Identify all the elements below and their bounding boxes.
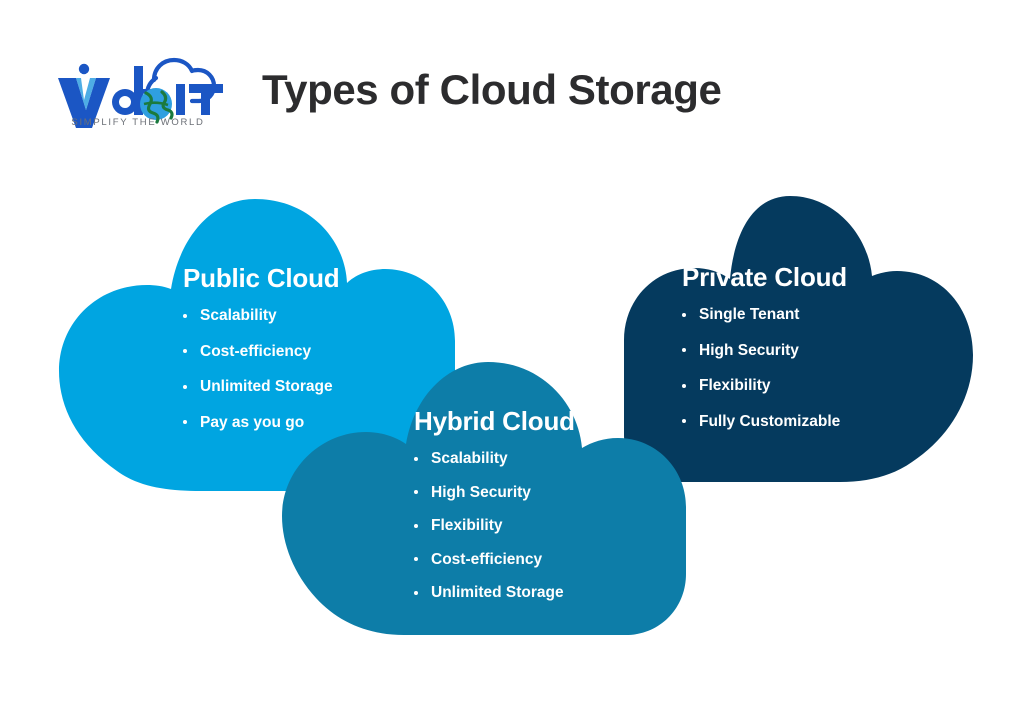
card-private-title: Private Cloud (682, 262, 847, 293)
infographic-canvas: SIMPLIFY THE WORLD Types of Cloud Storag… (0, 0, 1024, 725)
list-item-label: High Security (431, 484, 531, 501)
list-item-label: Cost-efficiency (431, 551, 542, 568)
bullet-icon (183, 314, 187, 318)
list-item-label: Unlimited Storage (431, 584, 564, 601)
list-item: High Security (414, 485, 575, 501)
card-hybrid-feature-list: Scalability High Security Flexibility Co… (414, 451, 575, 601)
bullet-icon (414, 557, 418, 561)
list-item: Single Tenant (682, 307, 847, 323)
list-item-label: High Security (699, 342, 799, 359)
card-public-title: Public Cloud (183, 263, 339, 294)
bullet-icon (414, 524, 418, 528)
bullet-icon (414, 591, 418, 595)
bullet-icon (682, 313, 686, 317)
list-item: Scalability (183, 308, 339, 324)
bullet-icon (414, 457, 418, 461)
bullet-icon (682, 348, 686, 352)
card-hybrid-content: Hybrid Cloud Scalability High Security F… (414, 406, 575, 619)
list-item: Flexibility (414, 518, 575, 534)
bullet-icon (183, 385, 187, 389)
bullet-icon (414, 490, 418, 494)
list-item: Cost-efficiency (183, 344, 339, 360)
list-item-label: Scalability (431, 450, 508, 467)
page-title: Types of Cloud Storage (262, 66, 721, 114)
list-item: Unlimited Storage (414, 585, 575, 601)
bullet-icon (183, 420, 187, 424)
list-item-label: Scalability (200, 307, 277, 324)
logo-tagline: SIMPLIFY THE WORLD (52, 117, 224, 128)
bullet-icon (183, 349, 187, 353)
list-item-label: Single Tenant (699, 306, 799, 323)
card-hybrid-cloud[interactable]: Hybrid Cloud Scalability High Security F… (278, 358, 738, 643)
company-logo: SIMPLIFY THE WORLD (50, 44, 230, 140)
list-item: Scalability (414, 451, 575, 467)
card-hybrid-title: Hybrid Cloud (414, 406, 575, 437)
list-item-label: Cost-efficiency (200, 343, 311, 360)
list-item-label: Flexibility (431, 517, 503, 534)
list-item: Cost-efficiency (414, 552, 575, 568)
list-item: High Security (682, 343, 847, 359)
